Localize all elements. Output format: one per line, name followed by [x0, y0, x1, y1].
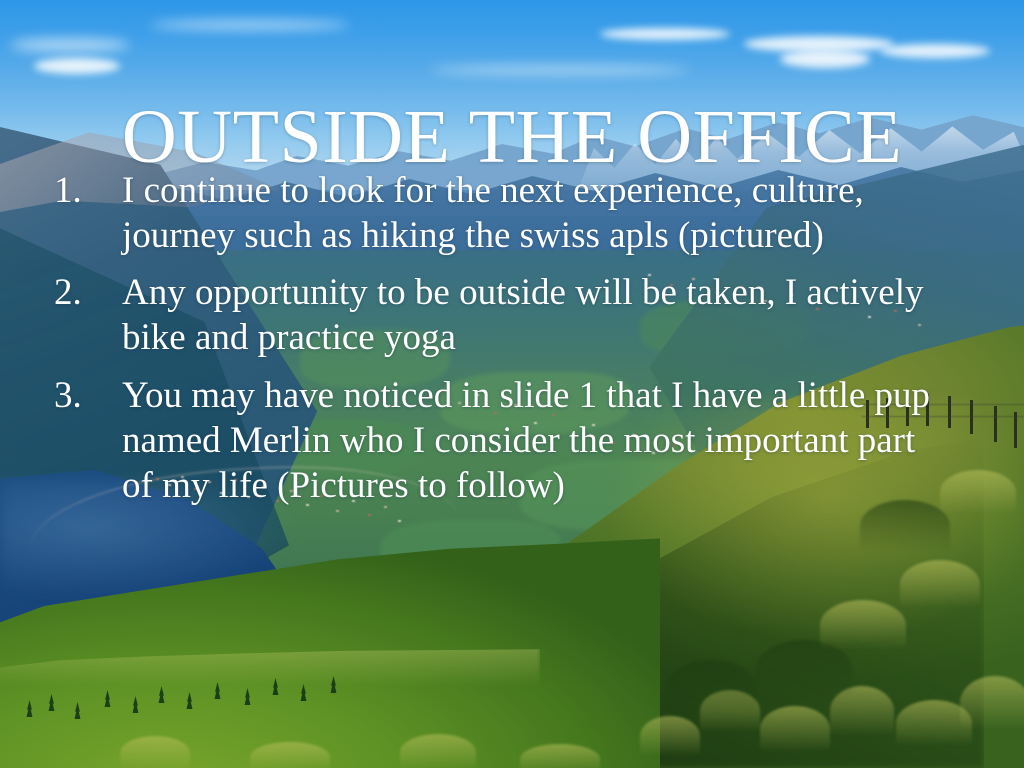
list-item-number: 1.: [46, 168, 122, 213]
list-item: 1. I continue to look for the next exper…: [46, 168, 946, 258]
presentation-slide: OUTSIDE THE OFFICE 1. I continue to look…: [0, 0, 1024, 768]
list-item: 2. Any opportunity to be outside will be…: [46, 270, 946, 360]
list-item-text: Any opportunity to be outside will be ta…: [122, 270, 946, 360]
list-item-text: You may have noticed in slide 1 that I h…: [122, 373, 946, 508]
list-item-text: I continue to look for the next experien…: [122, 168, 946, 258]
slide-content: OUTSIDE THE OFFICE 1. I continue to look…: [0, 0, 1024, 768]
list-item: 3. You may have noticed in slide 1 that …: [46, 373, 946, 508]
slide-title: OUTSIDE THE OFFICE: [0, 99, 1024, 175]
bullet-list: 1. I continue to look for the next exper…: [46, 168, 946, 520]
list-item-number: 3.: [46, 373, 122, 418]
list-item-number: 2.: [46, 270, 122, 315]
